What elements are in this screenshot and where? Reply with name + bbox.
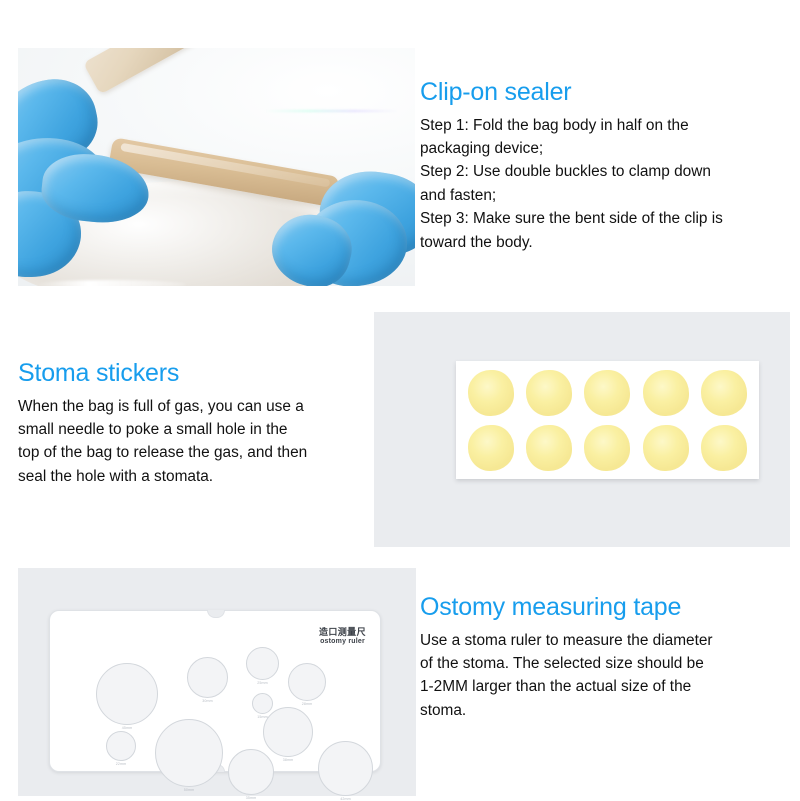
stoma-sticker — [526, 370, 572, 416]
infographic-page: Clip-on sealer Step 1: Fold the bag body… — [0, 0, 800, 800]
ruler-top-notch — [207, 610, 225, 618]
photo-stoma-stickers — [374, 312, 790, 547]
ruler-measuring-hole — [288, 663, 326, 701]
ruler-hole-label: 25mm — [257, 681, 267, 685]
stoma-sticker — [701, 370, 747, 416]
ruler-hole-label: 22mm — [116, 762, 126, 766]
body-line: stoma. — [420, 699, 792, 722]
ostomy-ruler-card: 造口测量尺 ostomy ruler 45mm30mm25mm15mm28mm2… — [49, 610, 381, 772]
body-line: Step 3: Make sure the bent side of the c… — [420, 207, 790, 230]
ruler-hole-label: 28mm — [302, 702, 312, 706]
ruler-measuring-hole — [252, 693, 273, 714]
body-line: Step 1: Fold the bag body in half on the — [420, 114, 790, 137]
ruler-measuring-hole — [187, 657, 228, 698]
stoma-sticker — [526, 425, 572, 471]
body-line: Step 2: Use double buckles to clamp down — [420, 160, 790, 183]
body-line: Use a stoma ruler to measure the diamete… — [420, 629, 792, 652]
ruler-brand-en: ostomy ruler — [319, 638, 366, 647]
ruler-hole-label: 30mm — [202, 699, 212, 703]
lens-flare-streak — [264, 110, 399, 112]
ostomy-measuring-tape-heading: Ostomy measuring tape — [420, 594, 792, 622]
stoma-stickers-text-block: Stoma stickers When the bag is full of g… — [18, 360, 378, 488]
sticker-sheet — [456, 361, 759, 479]
stoma-stickers-heading: Stoma stickers — [18, 360, 378, 388]
stoma-stickers-body: When the bag is full of gas, you can use… — [18, 395, 378, 489]
ruler-measuring-hole — [228, 749, 274, 795]
body-line: When the bag is full of gas, you can use… — [18, 395, 378, 418]
stoma-sticker — [584, 370, 630, 416]
body-line: and fasten; — [420, 184, 790, 207]
photo-ostomy-ruler: 造口测量尺 ostomy ruler 45mm30mm25mm15mm28mm2… — [18, 568, 416, 796]
ruler-measuring-hole — [318, 741, 373, 796]
photo-clip-on-sealer — [18, 48, 415, 286]
body-line: of the stoma. The selected size should b… — [420, 652, 792, 675]
clip-on-sealer-heading: Clip-on sealer — [420, 79, 790, 107]
ostomy-measuring-tape-text-block: Ostomy measuring tape Use a stoma ruler … — [420, 594, 792, 722]
body-line: 1-2MM larger than the actual size of the — [420, 675, 792, 698]
ruler-hole-label: 38mm — [283, 758, 293, 762]
ruler-brand-label: 造口测量尺 ostomy ruler — [319, 627, 366, 647]
stoma-sticker — [584, 425, 630, 471]
body-line: small needle to poke a small hole in the — [18, 418, 378, 441]
stoma-sticker — [643, 425, 689, 471]
ruler-hole-label: 42mm — [340, 797, 350, 801]
body-line: packaging device; — [420, 137, 790, 160]
body-line: seal the hole with a stomata. — [18, 465, 378, 488]
ruler-measuring-hole — [246, 647, 279, 680]
ostomy-measuring-tape-body: Use a stoma ruler to measure the diamete… — [420, 629, 792, 723]
ruler-hole-label: 50mm — [184, 788, 194, 792]
stoma-sticker — [643, 370, 689, 416]
body-line: toward the body. — [420, 231, 790, 254]
clip-on-sealer-body: Step 1: Fold the bag body in half on the… — [420, 114, 790, 254]
stoma-sticker — [468, 370, 514, 416]
ruler-hole-label: 45mm — [122, 726, 132, 730]
ruler-measuring-hole — [106, 731, 136, 761]
bag-highlight — [36, 280, 186, 286]
ruler-measuring-hole — [96, 663, 158, 725]
ruler-measuring-hole — [263, 707, 313, 757]
ruler-hole-label: 35mm — [246, 796, 256, 800]
stoma-sticker — [468, 425, 514, 471]
ruler-brand-cn: 造口测量尺 — [319, 627, 366, 638]
clip-on-sealer-text-block: Clip-on sealer Step 1: Fold the bag body… — [420, 79, 790, 254]
ruler-measuring-hole — [155, 719, 223, 787]
stoma-sticker — [701, 425, 747, 471]
body-line: top of the bag to release the gas, and t… — [18, 441, 378, 464]
